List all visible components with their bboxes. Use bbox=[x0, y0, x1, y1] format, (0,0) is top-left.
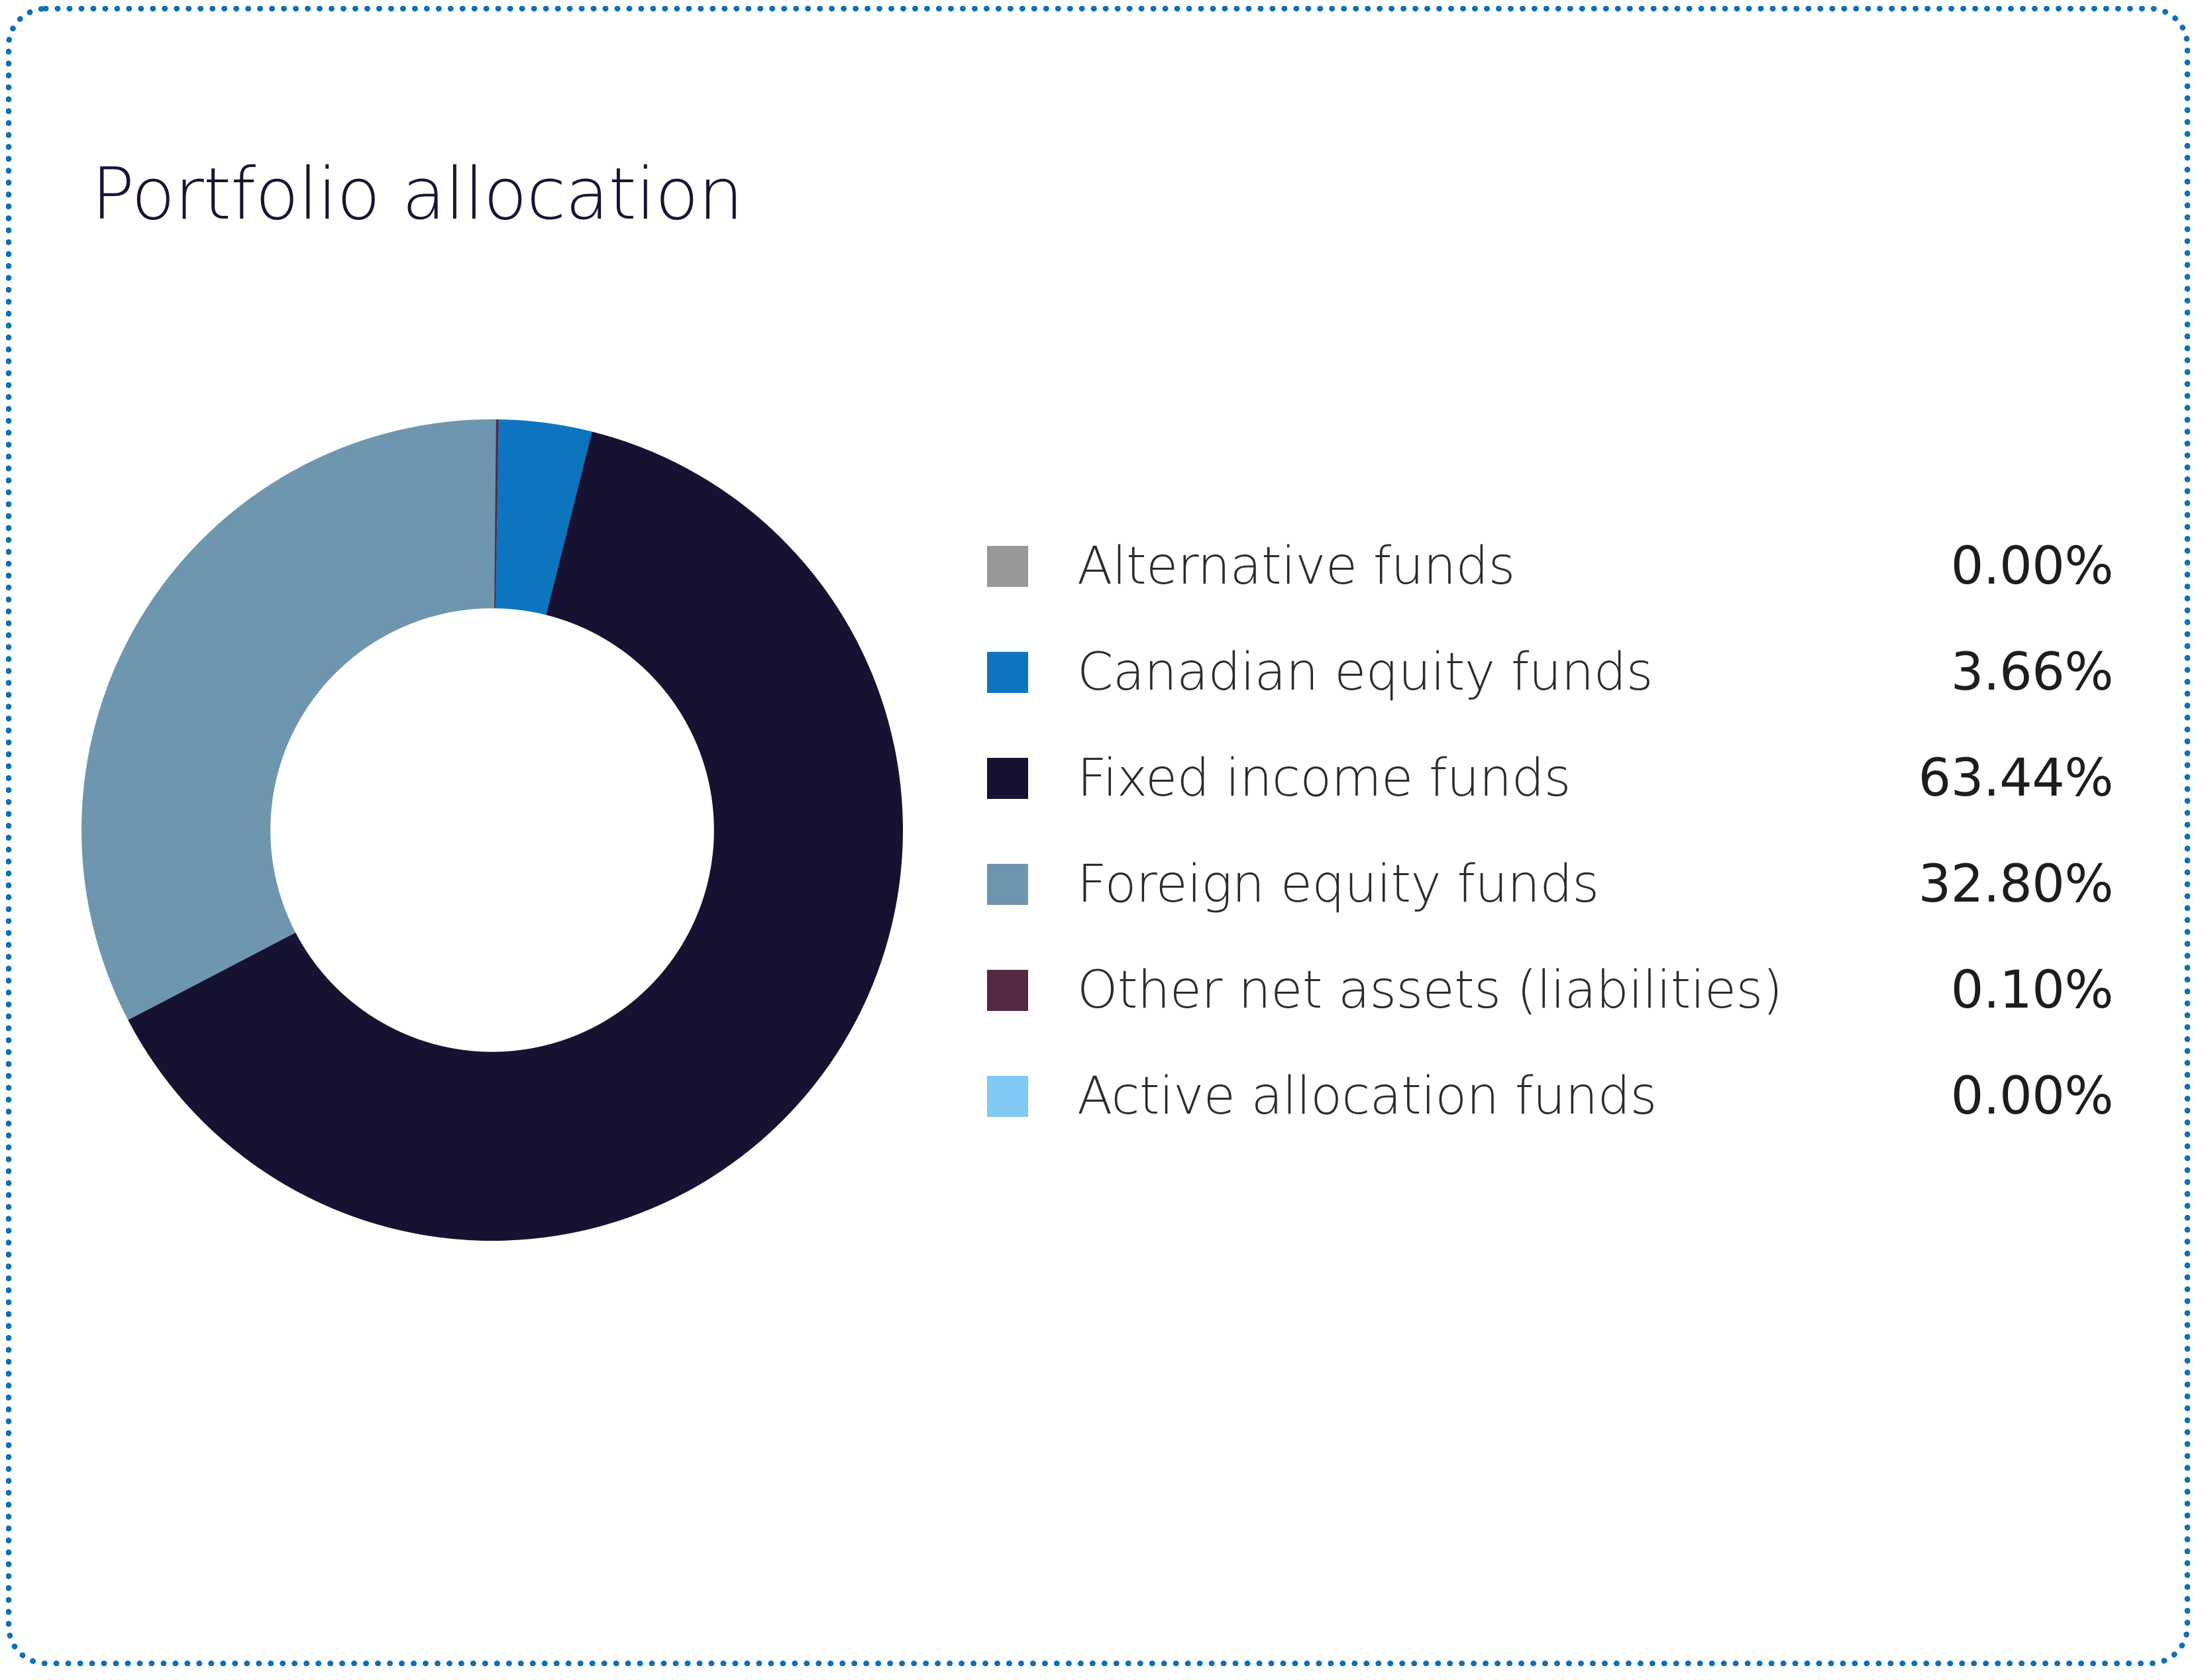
legend-swatch-icon bbox=[987, 1076, 1028, 1117]
legend-item-foreign-equity-funds[interactable]: Foreign equity funds 32.80% bbox=[987, 831, 2113, 937]
legend-swatch-icon bbox=[987, 546, 1028, 587]
portfolio-allocation-card: Portfolio allocation Alternative funds 0… bbox=[0, 0, 2204, 1680]
page-title: Portfolio allocation bbox=[91, 154, 743, 236]
legend-item-label: Active allocation funds bbox=[1077, 1067, 1895, 1126]
legend-item-canadian-equity-funds[interactable]: Canadian equity funds 3.66% bbox=[987, 619, 2113, 725]
legend-item-value: 3.66% bbox=[1895, 643, 2113, 702]
legend-swatch-icon bbox=[987, 652, 1028, 693]
chart-legend: Alternative funds 0.00% Canadian equity … bbox=[987, 513, 2113, 1149]
legend-swatch-icon bbox=[987, 758, 1028, 799]
legend-item-label: Alternative funds bbox=[1077, 537, 1895, 596]
donut-slice[interactable] bbox=[81, 419, 496, 1020]
legend-item-value: 0.00% bbox=[1895, 1067, 2113, 1126]
legend-item-label: Foreign equity funds bbox=[1077, 855, 1895, 914]
legend-item-value: 32.80% bbox=[1895, 855, 2113, 914]
legend-item-value: 0.00% bbox=[1895, 537, 2113, 596]
legend-item-alternative-funds[interactable]: Alternative funds 0.00% bbox=[987, 513, 2113, 619]
legend-item-label: Other net assets (liabilities) bbox=[1077, 961, 1895, 1020]
legend-item-value: 63.44% bbox=[1895, 749, 2113, 808]
legend-item-label: Fixed income funds bbox=[1077, 749, 1895, 808]
legend-item-value: 0.10% bbox=[1895, 961, 2113, 1020]
donut-chart bbox=[81, 419, 903, 1241]
donut-chart-svg bbox=[81, 419, 903, 1241]
legend-item-other-net-assets[interactable]: Other net assets (liabilities) 0.10% bbox=[987, 937, 2113, 1043]
legend-swatch-icon bbox=[987, 970, 1028, 1011]
donut-slice-group bbox=[81, 419, 903, 1241]
legend-item-label: Canadian equity funds bbox=[1077, 643, 1895, 702]
legend-item-active-allocation-funds[interactable]: Active allocation funds 0.00% bbox=[987, 1043, 2113, 1149]
legend-item-fixed-income-funds[interactable]: Fixed income funds 63.44% bbox=[987, 725, 2113, 831]
legend-swatch-icon bbox=[987, 864, 1028, 905]
